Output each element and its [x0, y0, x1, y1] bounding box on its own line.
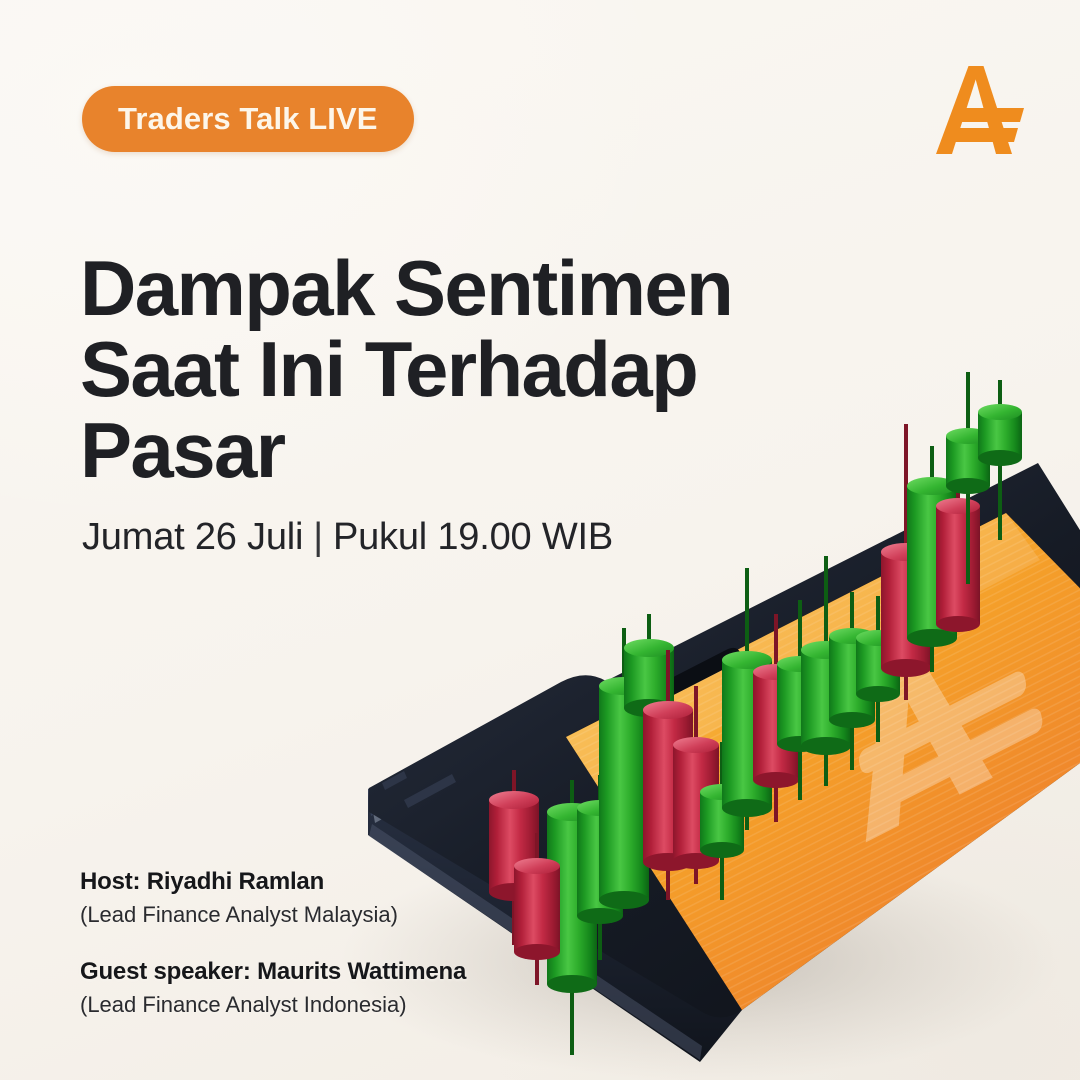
guest-name: Guest speaker: Maurits Wattimena: [80, 956, 550, 987]
headline-line-1: Dampak Sentimen: [80, 248, 820, 329]
guest-role: (Lead Finance Analyst Indonesia): [80, 990, 550, 1020]
headline-line-2: Saat Ini Terhadap: [80, 329, 820, 410]
live-badge-label: Traders Talk LIVE: [118, 101, 378, 137]
guest-credit: Guest speaker: Maurits Wattimena (Lead F…: [80, 956, 550, 1020]
page-title: Dampak Sentimen Saat Ini Terhadap Pasar: [80, 248, 820, 490]
credits-block: Host: Riyadhi Ramlan (Lead Finance Analy…: [80, 866, 550, 1020]
schedule-date: Jumat 26 Juli: [82, 516, 303, 558]
headline-line-3: Pasar: [80, 410, 820, 491]
host-role: (Lead Finance Analyst Malaysia): [80, 900, 550, 930]
live-badge[interactable]: Traders Talk LIVE: [82, 86, 414, 152]
schedule-line: Jumat 26 Juli|Pukul 19.00 WIB: [82, 516, 613, 559]
schedule-time: Pukul 19.00 WIB: [333, 516, 613, 558]
host-credit: Host: Riyadhi Ramlan (Lead Finance Analy…: [80, 866, 550, 930]
host-name: Host: Riyadhi Ramlan: [80, 866, 550, 897]
brand-a-monogram-icon: [928, 62, 1032, 162]
promo-poster: Traders Talk LIVE Dampak Sentimen Saat I…: [0, 0, 1080, 1080]
schedule-separator: |: [313, 516, 323, 559]
